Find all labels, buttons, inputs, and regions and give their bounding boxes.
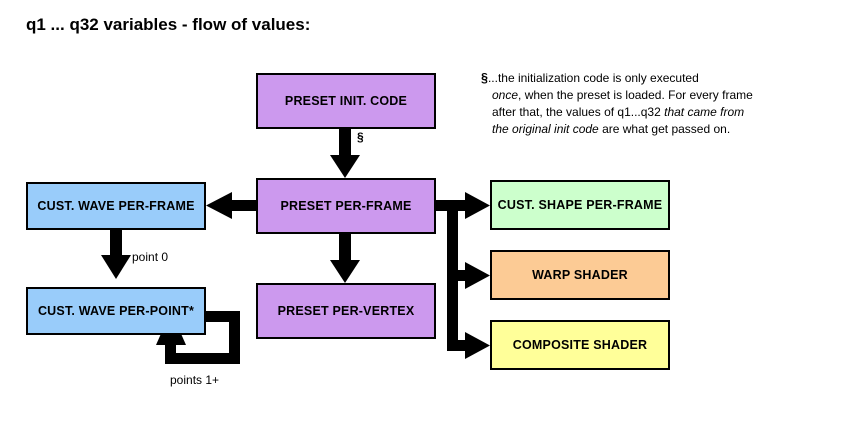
node-label-cust-wave-per-frame: CUST. WAVE PER-FRAME: [37, 199, 194, 213]
note-line-4-emph: the original init code: [492, 122, 599, 136]
diagram-canvas: q1 ... q32 variables - flow of values:: [0, 0, 850, 429]
node-cust-wave-per-point[interactable]: CUST. WAVE PER-POINT*: [26, 287, 206, 335]
edge-per-frame-to-right-branch: [436, 192, 490, 359]
note-line-2-emph: once: [492, 88, 518, 102]
note-line-4-text: are what get passed on.: [599, 122, 730, 136]
node-label-warp-shader: WARP SHADER: [532, 268, 628, 282]
edge-init-to-per-frame: [330, 129, 360, 178]
section-marker-label: §: [357, 130, 364, 144]
edge-per-frame-to-wave-per-frame: [206, 192, 258, 219]
note-line-3: after that, the values of q1...q32 that …: [481, 104, 811, 121]
node-label-preset-per-frame: PRESET PER-FRAME: [281, 199, 412, 213]
edge-label-points-1-plus: points 1+: [170, 373, 219, 387]
footnote-note: §...the initialization code is only exec…: [481, 70, 811, 138]
note-line-3-emph: that came from: [664, 105, 744, 119]
node-label-preset-per-vertex: PRESET PER-VERTEX: [278, 304, 415, 318]
note-line-2: once, when the preset is loaded. For eve…: [481, 87, 811, 104]
node-label-cust-shape-per-frame: CUST. SHAPE PER-FRAME: [498, 198, 663, 212]
node-preset-per-vertex[interactable]: PRESET PER-VERTEX: [256, 283, 436, 339]
note-line-1-text: ...the initialization code is only execu…: [488, 71, 699, 85]
node-preset-per-frame[interactable]: PRESET PER-FRAME: [256, 178, 436, 234]
node-label-preset-init-code: PRESET INIT. CODE: [285, 94, 407, 108]
node-label-cust-wave-per-point: CUST. WAVE PER-POINT*: [38, 304, 194, 318]
node-label-composite-shader: COMPOSITE SHADER: [513, 338, 647, 352]
node-preset-init-code[interactable]: PRESET INIT. CODE: [256, 73, 436, 129]
node-cust-wave-per-frame[interactable]: CUST. WAVE PER-FRAME: [26, 182, 206, 230]
node-cust-shape-per-frame[interactable]: CUST. SHAPE PER-FRAME: [490, 180, 670, 230]
note-line-2-text: , when the preset is loaded. For every f…: [518, 88, 753, 102]
note-line-1: §...the initialization code is only exec…: [481, 70, 811, 87]
edge-wave-per-frame-to-wave-per-point: [101, 230, 131, 279]
node-composite-shader[interactable]: COMPOSITE SHADER: [490, 320, 670, 370]
note-line-4: the original init code are what get pass…: [481, 121, 811, 138]
note-line-3-text: after that, the values of q1...q32: [492, 105, 664, 119]
note-section-symbol: §: [481, 71, 488, 85]
node-warp-shader[interactable]: WARP SHADER: [490, 250, 670, 300]
edge-label-point-0: point 0: [132, 250, 168, 264]
edge-per-frame-to-per-vertex: [330, 234, 360, 283]
